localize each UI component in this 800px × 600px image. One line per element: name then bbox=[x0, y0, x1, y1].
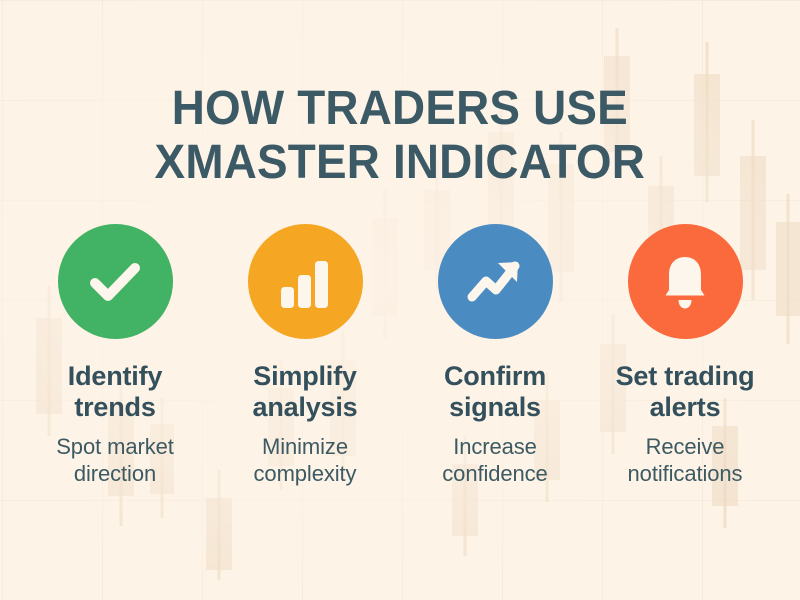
benefit-subtext-line-2: complexity bbox=[254, 461, 357, 486]
poster-content: HOW TRADERS USE XMASTER INDICATOR Identi… bbox=[0, 0, 800, 600]
title-line-1: HOW TRADERS USE bbox=[155, 82, 646, 136]
benefit-heading: Simplify analysis bbox=[253, 361, 358, 423]
page-title: HOW TRADERS USE XMASTER INDICATOR bbox=[143, 82, 657, 190]
benefit-column-identify-trends: Identify trends Spot market direction bbox=[20, 224, 210, 487]
benefit-subtext-line-2: notifications bbox=[628, 461, 743, 486]
benefit-heading: Confirm signals bbox=[444, 361, 546, 423]
benefit-heading-line-1: Identify bbox=[68, 361, 162, 391]
benefit-subtext-line-1: Spot market bbox=[56, 434, 174, 459]
infographic-poster: HOW TRADERS USE XMASTER INDICATOR Identi… bbox=[0, 0, 800, 600]
icon-circle-blue bbox=[438, 224, 553, 339]
check-icon bbox=[81, 248, 149, 316]
benefit-subtext: Receive notifications bbox=[628, 433, 743, 487]
icon-circle-orange bbox=[628, 224, 743, 339]
benefit-heading: Set trading alerts bbox=[616, 361, 755, 423]
bell-icon bbox=[654, 251, 716, 313]
benefit-column-set-trading-alerts: Set trading alerts Receive notifications bbox=[590, 224, 780, 487]
icon-circle-green bbox=[58, 224, 173, 339]
icon-circle-amber bbox=[248, 224, 363, 339]
benefit-column-simplify-analysis: Simplify analysis Minimize complexity bbox=[210, 224, 400, 487]
trending-up-arrow-icon bbox=[462, 249, 528, 315]
benefit-subtext-line-1: Increase bbox=[453, 434, 537, 459]
benefit-subtext-line-2: direction bbox=[74, 461, 156, 486]
benefit-subtext-line-2: confidence bbox=[442, 461, 547, 486]
benefit-column-confirm-signals: Confirm signals Increase confidence bbox=[400, 224, 590, 487]
benefit-heading-line-1: Set trading bbox=[616, 361, 755, 391]
title-line-2: XMASTER INDICATOR bbox=[155, 136, 646, 190]
benefit-heading-line-1: Simplify bbox=[253, 361, 356, 391]
benefit-subtext: Spot market direction bbox=[56, 433, 174, 487]
benefit-heading-line-2: analysis bbox=[253, 392, 358, 422]
benefit-subtext: Increase confidence bbox=[442, 433, 547, 487]
benefit-heading-line-2: alerts bbox=[650, 392, 721, 422]
benefit-heading: Identify trends bbox=[68, 361, 162, 423]
benefit-subtext-line-1: Minimize bbox=[262, 434, 348, 459]
bar-chart-icon bbox=[275, 252, 335, 312]
benefit-heading-line-2: trends bbox=[74, 392, 155, 422]
benefit-columns: Identify trends Spot market direction bbox=[0, 224, 800, 487]
benefit-subtext-line-1: Receive bbox=[646, 434, 725, 459]
benefit-heading-line-2: signals bbox=[449, 392, 541, 422]
benefit-subtext: Minimize complexity bbox=[254, 433, 357, 487]
benefit-heading-line-1: Confirm bbox=[444, 361, 546, 391]
